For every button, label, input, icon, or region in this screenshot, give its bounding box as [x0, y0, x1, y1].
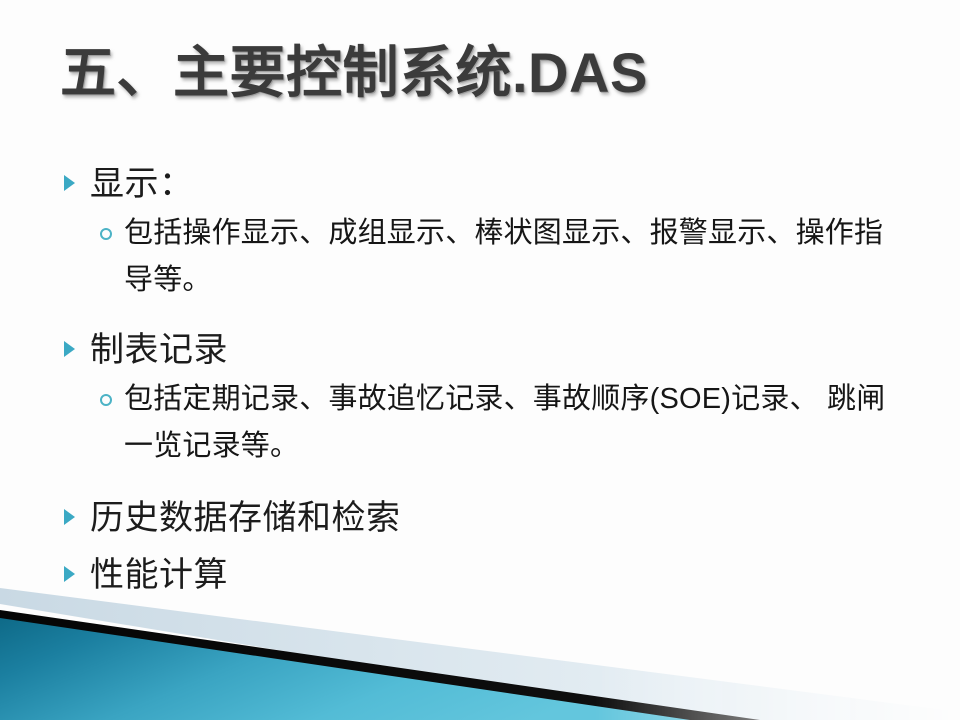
list-item: 性能计算 — [64, 551, 924, 599]
triangle-right-icon — [64, 160, 90, 191]
bottom-left-diagonal-banner — [0, 580, 960, 720]
list-item: 显示： — [64, 160, 924, 208]
bullet-level2-label: 包括定期记录、事故追忆记录、事故顺序(SOE)记录、 跳闸一览记录等。 — [124, 376, 894, 470]
list-item: 包括定期记录、事故追忆记录、事故顺序(SOE)记录、 跳闸一览记录等。 — [98, 376, 924, 470]
black-diagonal-stripe — [0, 610, 760, 720]
triangle-right-icon — [64, 494, 90, 525]
bullet-level2-label: 包括操作显示、成组显示、棒状图显示、报警显示、操作指导等。 — [124, 210, 894, 304]
triangle-right-icon — [64, 551, 90, 582]
list-item: 制表记录 — [64, 326, 924, 374]
hollow-circle-icon — [98, 210, 124, 240]
triangle-right-icon — [64, 326, 90, 357]
bullet-level1-label: 性能计算 — [90, 551, 228, 599]
pale-diagonal-band — [0, 588, 960, 720]
list-item: 包括操作显示、成组显示、棒状图显示、报警显示、操作指导等。 — [98, 210, 924, 304]
bullet-level1-label: 历史数据存储和检索 — [90, 494, 401, 542]
teal-diagonal-wedge — [0, 618, 690, 720]
bullet-level1-label: 制表记录 — [90, 326, 228, 374]
slide-canvas: 五、主要控制系统.DAS 显示： 包括操作显示、成组显示、棒状图显示、报警显示、… — [0, 0, 960, 720]
page-title: 五、主要控制系统.DAS — [60, 44, 900, 103]
bullet-list: 显示： 包括操作显示、成组显示、棒状图显示、报警显示、操作指导等。 制表记录 包… — [64, 160, 924, 601]
list-item: 历史数据存储和检索 — [64, 494, 924, 542]
bullet-level1-label: 显示： — [90, 160, 194, 208]
title-block: 五、主要控制系统.DAS — [60, 44, 900, 130]
hollow-circle-icon — [98, 376, 124, 406]
